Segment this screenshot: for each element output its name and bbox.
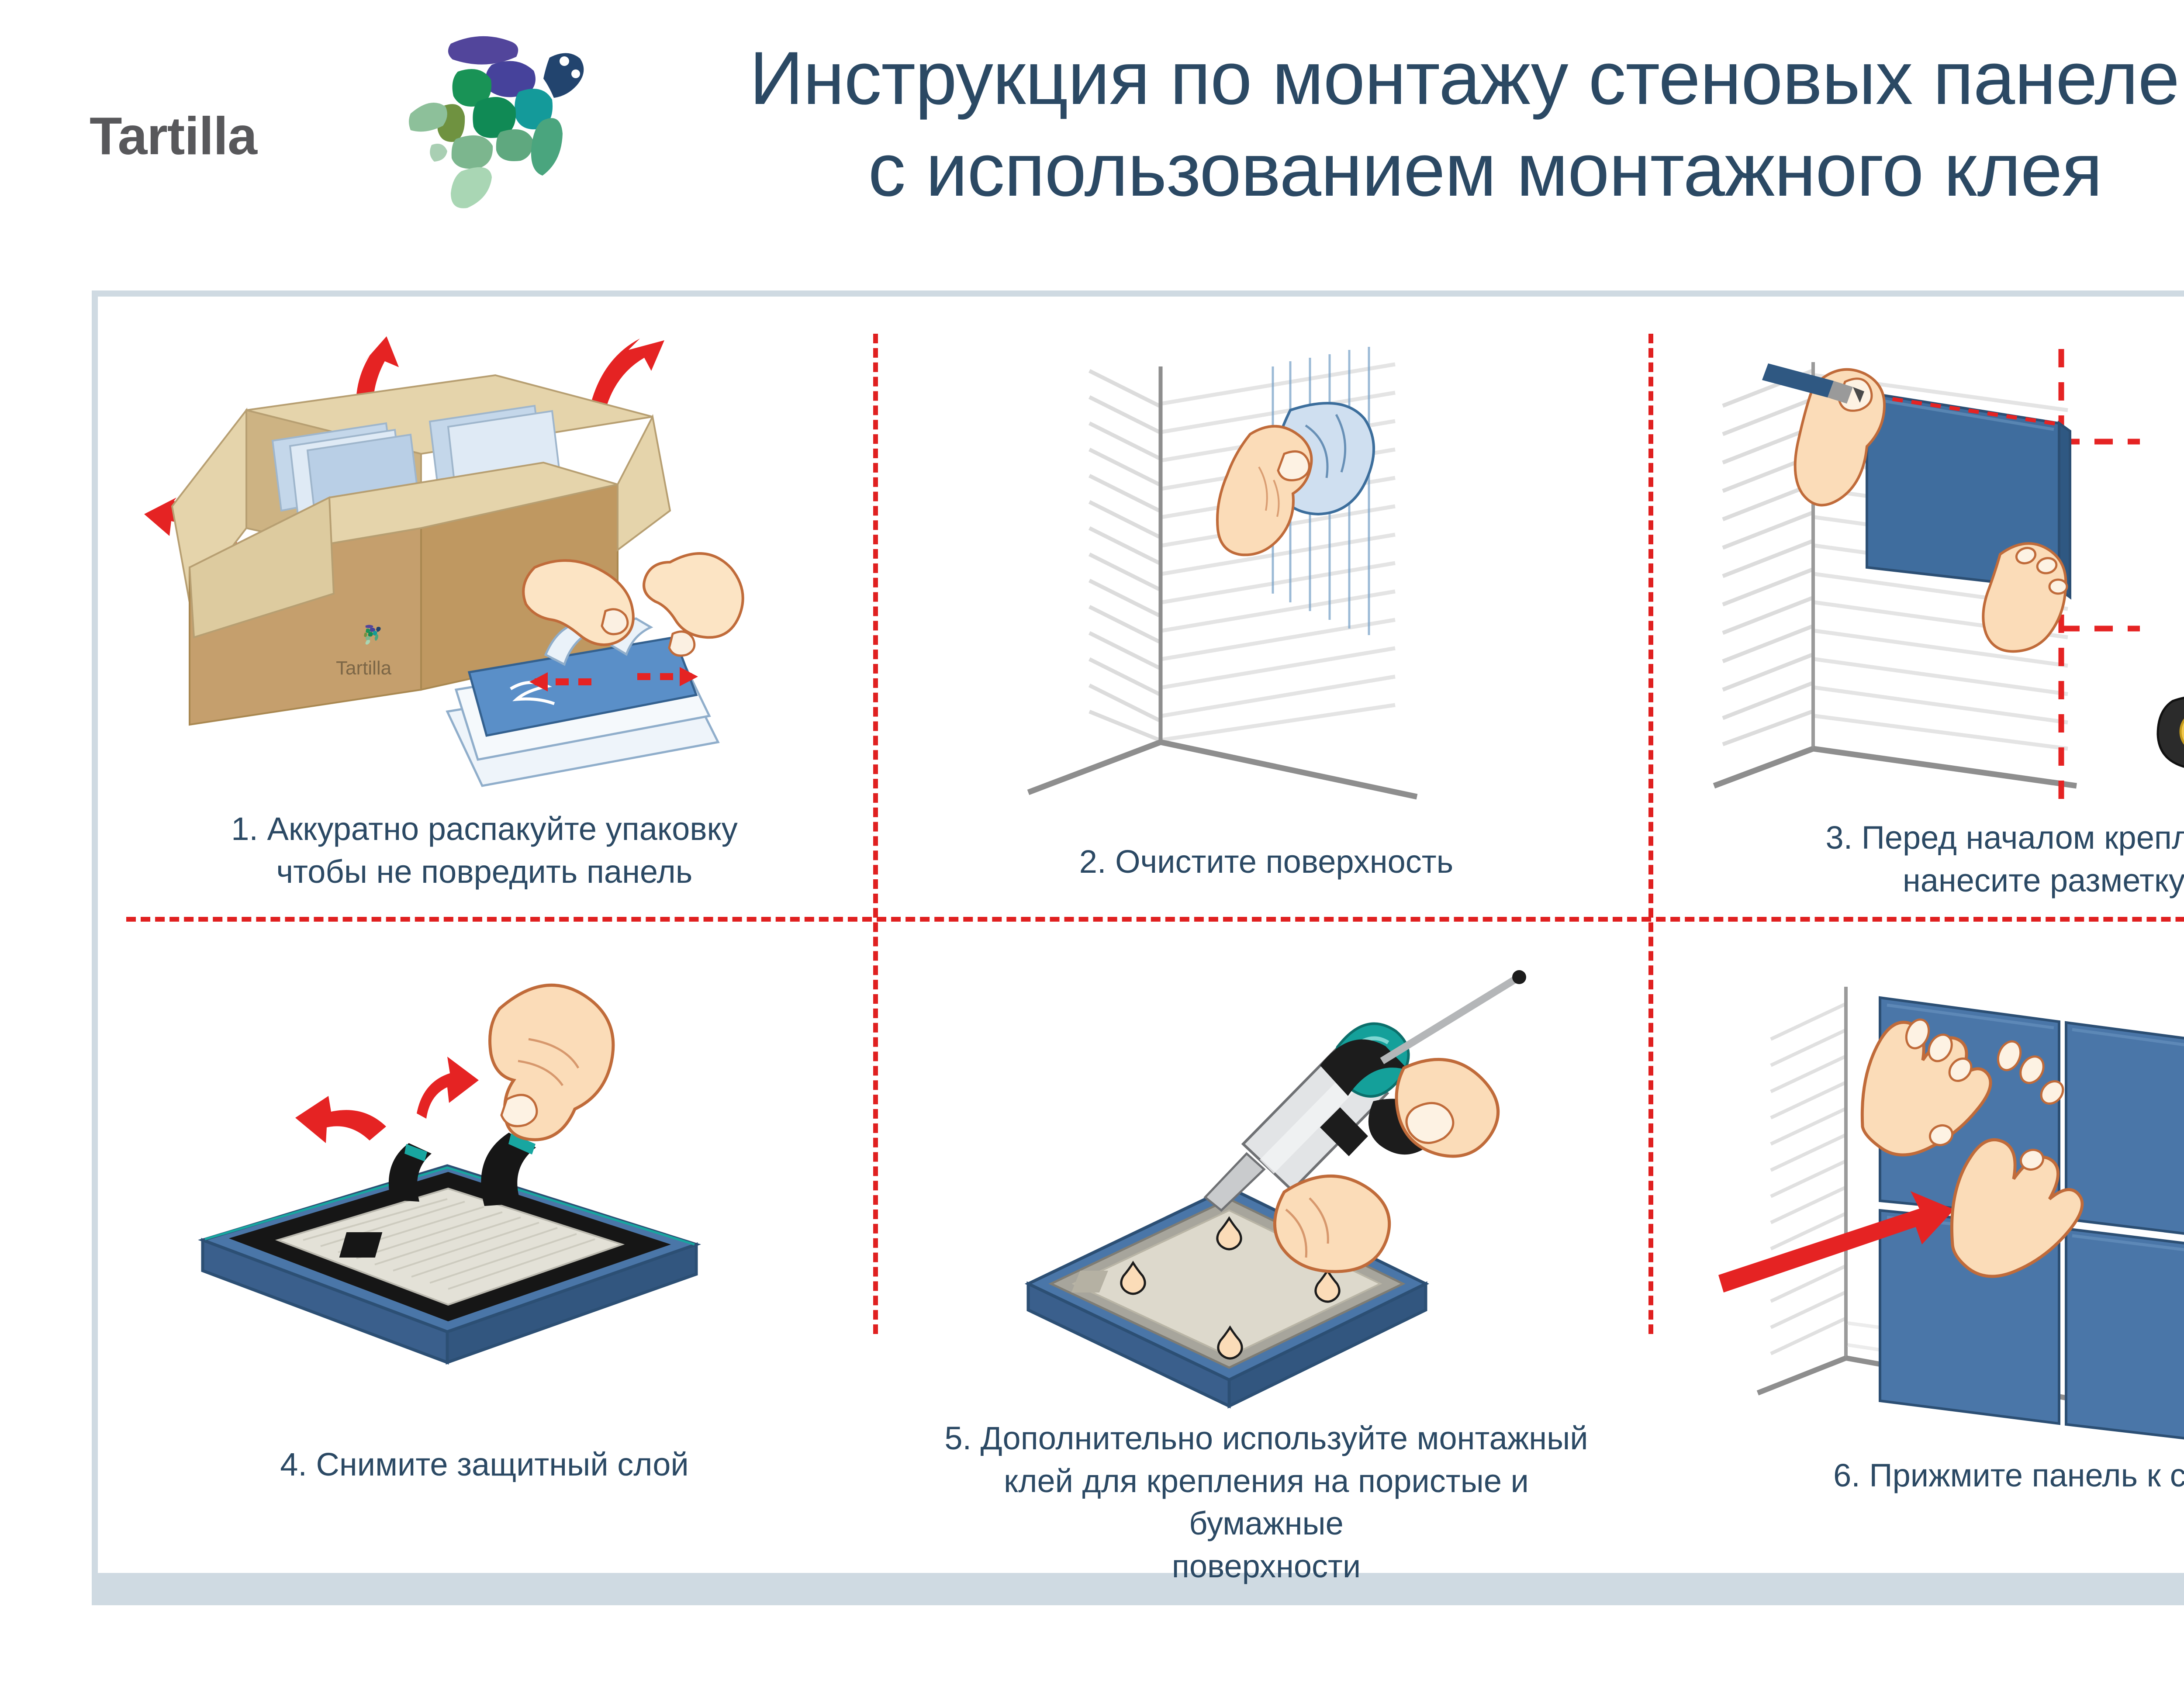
caulking-gun-illustration [897, 939, 1635, 1441]
step-1-caption-line-2: чтобы не повредить панель [145, 850, 824, 893]
step-5-caption: 5. Дополнительно используйте монтажный к… [927, 1417, 1606, 1588]
step-5-caption-line-3: поверхности [927, 1545, 1606, 1588]
step-3: 3. Перед началом крепления нанесите разм… [1675, 323, 2184, 904]
page-title-line-2: с использованием монтажного клея [502, 124, 2184, 216]
step-1-caption: 1. Аккуратно распакуйте упаковку чтобы н… [145, 808, 824, 893]
step-2-caption: 2. Очистите поверхность [927, 840, 1606, 883]
brand-logo: Tartilla [90, 17, 531, 201]
open-box-with-wrapped-panels-illustration: Tartilla [115, 323, 854, 803]
hand-wiping-wall-illustration [897, 323, 1635, 825]
step-3-caption-line-2: нанесите разметку [1704, 859, 2184, 902]
divider-horizontal [126, 917, 2184, 922]
step-5-caption-line-1: 5. Дополнительно используйте монтажный [927, 1417, 1606, 1460]
step-6: 6. Прижмите панель к стене [1675, 939, 2184, 1559]
peeling-protective-film-illustration [115, 939, 854, 1441]
page-title-line-1: Инструкция по монтажу стеновых панелей [502, 33, 2184, 124]
step-1-caption-line-1: 1. Аккуратно распакуйте упаковку [145, 808, 824, 850]
step-2: 2. Очистите поверхность [897, 323, 1635, 904]
page-title: Инструкция по монтажу стеновых панелей с… [502, 33, 2184, 216]
brand-wordmark: Tartilla [90, 109, 334, 162]
box-brand-text: Tartilla [336, 657, 392, 679]
step-5-caption-line-2: клей для крепления на пористые и бумажны… [927, 1460, 1606, 1545]
marking-wall-illustration [1675, 323, 2184, 825]
step-6-caption-line-1: 6. Прижмите панель к стене [1704, 1454, 2184, 1497]
divider-vertical-1 [873, 334, 878, 1334]
page-header: Tartilla [0, 0, 2184, 288]
pressing-panels-illustration [1675, 939, 2184, 1441]
step-1: Tartilla 1. Аккуратно распакуйте упаков [115, 323, 854, 904]
divider-vertical-2 [1648, 334, 1653, 1334]
step-6-caption: 6. Прижмите панель к стене [1704, 1454, 2184, 1497]
instructions-frame: Tartilla 1. Аккуратно распакуйте упаков [92, 290, 2184, 1605]
step-3-caption: 3. Перед началом крепления нанесите разм… [1704, 816, 2184, 902]
step-4-caption-line-1: 4. Снимите защитный слой [145, 1443, 824, 1486]
step-4: 4. Снимите защитный слой [115, 939, 854, 1559]
step-2-caption-line-1: 2. Очистите поверхность [927, 840, 1606, 883]
step-4-caption: 4. Снимите защитный слой [145, 1443, 824, 1486]
step-5: 5. Дополнительно используйте монтажный к… [897, 939, 1635, 1559]
step-3-caption-line-1: 3. Перед началом крепления [1704, 816, 2184, 859]
